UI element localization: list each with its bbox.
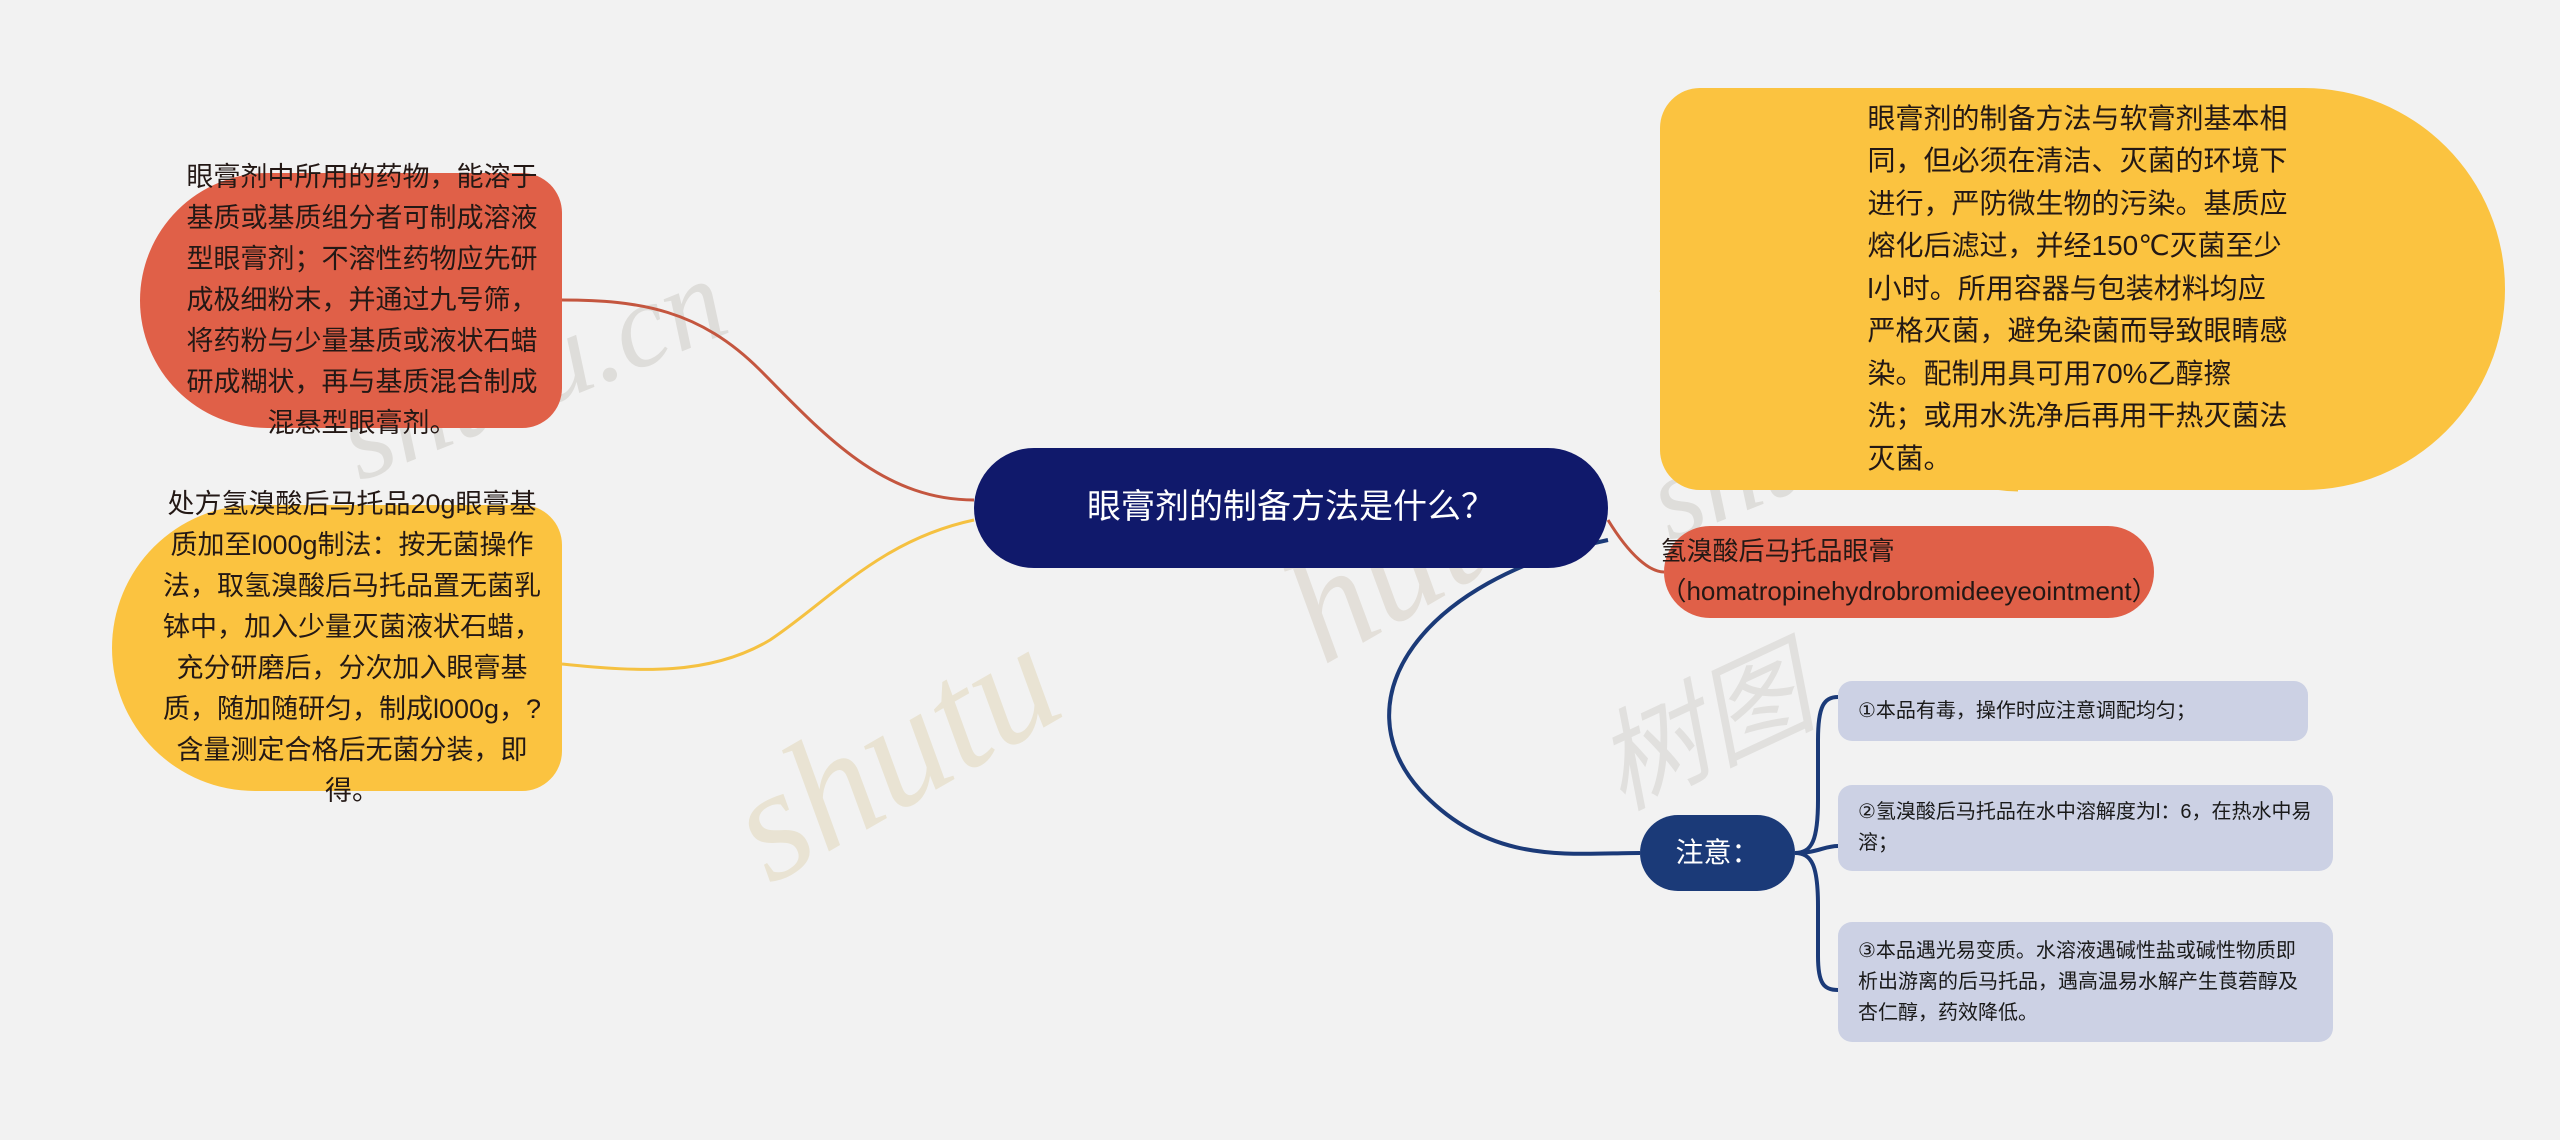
note-item-1-label: ①本品有毒，操作时应注意调配均匀； — [1858, 696, 2196, 727]
branch-node-left-red-label: 眼膏剂中所用的药物，能溶于基质或基质组分者可制成溶液型眼膏剂；不溶性药物应先研成… — [176, 157, 548, 444]
branch-node-right-red[interactable]: 氢溴酸后马托品眼膏（homatropinehydrobromideeyeoint… — [1664, 526, 2154, 618]
root-node[interactable]: 眼膏剂的制备方法是什么？ — [974, 448, 1608, 568]
root-node-label: 眼膏剂的制备方法是什么？ — [1087, 482, 1495, 534]
branch-node-notice-label: 注意： — [1675, 832, 1759, 875]
branch-node-notice[interactable]: 注意： — [1640, 815, 1795, 891]
connector-left-red — [562, 300, 974, 500]
branch-node-left-yellow-label: 处方氢溴酸后马托品20g眼膏基质加至l000g制法：按无菌操作法，取氢溴酸后马托… — [156, 484, 548, 812]
connector-note-1 — [1795, 697, 1838, 853]
note-item-3[interactable]: ③本品遇光易变质。水溶液遇碱性盐或碱性物质即析出游离的后马托品，遇高温易水解产生… — [1838, 922, 2333, 1042]
connector-right-red — [1608, 520, 1664, 572]
branch-node-left-red[interactable]: 眼膏剂中所用的药物，能溶于基质或基质组分者可制成溶液型眼膏剂；不溶性药物应先研成… — [140, 173, 562, 428]
note-item-2-label: ②氢溴酸后马托品在水中溶解度为l：6，在热水中易溶； — [1858, 797, 2313, 859]
note-item-1[interactable]: ①本品有毒，操作时应注意调配均匀； — [1838, 681, 2308, 741]
branch-node-right-red-label: 氢溴酸后马托品眼膏（homatropinehydrobromideeyeoint… — [1660, 532, 2157, 611]
note-item-3-label: ③本品遇光易变质。水溶液遇碱性盐或碱性物质即析出游离的后马托品，遇高温易水解产生… — [1858, 936, 2313, 1029]
connector-left-yellow — [562, 520, 974, 669]
branch-node-left-yellow[interactable]: 处方氢溴酸后马托品20g眼膏基质加至l000g制法：按无菌操作法，取氢溴酸后马托… — [112, 505, 562, 791]
branch-node-right-yellow-label: 眼膏剂的制备方法与软膏剂基本相同，但必须在清洁、灭菌的环境下进行，严防微生物的污… — [1868, 98, 2288, 481]
branch-node-right-yellow[interactable]: 眼膏剂的制备方法与软膏剂基本相同，但必须在清洁、灭菌的环境下进行，严防微生物的污… — [1660, 88, 2505, 490]
note-item-2[interactable]: ②氢溴酸后马托品在水中溶解度为l：6，在热水中易溶； — [1838, 785, 2333, 871]
connector-note-3 — [1795, 853, 1838, 990]
connector-notice — [1389, 540, 1640, 854]
